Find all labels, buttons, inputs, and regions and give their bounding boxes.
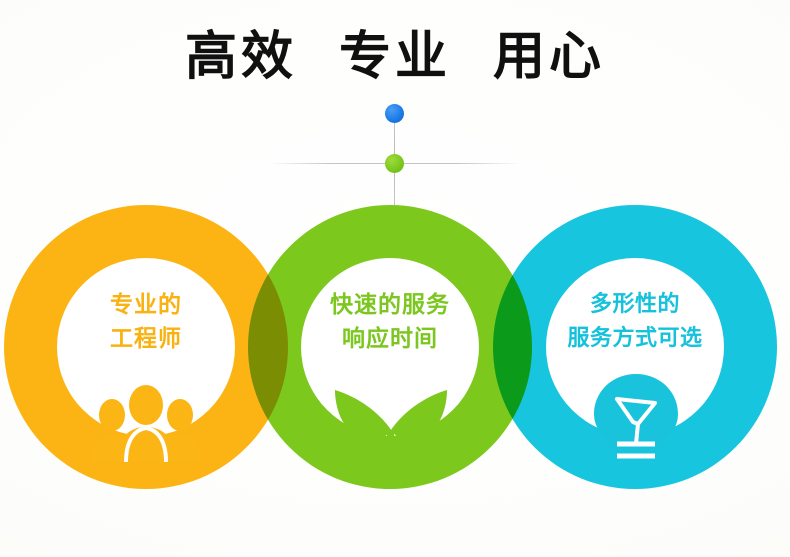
circle-label-response-time: 快速的服务 响应时间 — [280, 288, 500, 356]
lightbulb-icon — [581, 372, 691, 464]
circle-label-engineers-line-1: 专业的 — [36, 288, 256, 322]
sprout-leaf-icon — [326, 384, 456, 462]
venn-diagram — [0, 0, 790, 557]
people-group-icon — [81, 384, 211, 462]
circle-label-engineers-line-2: 工程师 — [36, 322, 256, 356]
circle-label-response-time-line-2: 响应时间 — [280, 322, 500, 356]
circle-label-engineers: 专业的 工程师 — [36, 288, 256, 356]
circle-label-service-options-line-2: 服务方式可选 — [525, 322, 745, 356]
infographic-canvas: 高效专业用心 专业的 工程师 — [0, 0, 790, 557]
circle-label-service-options: 多形性的 服务方式可选 — [525, 288, 745, 356]
circle-label-service-options-line-1: 多形性的 — [525, 288, 745, 322]
circle-label-response-time-line-1: 快速的服务 — [280, 288, 500, 322]
